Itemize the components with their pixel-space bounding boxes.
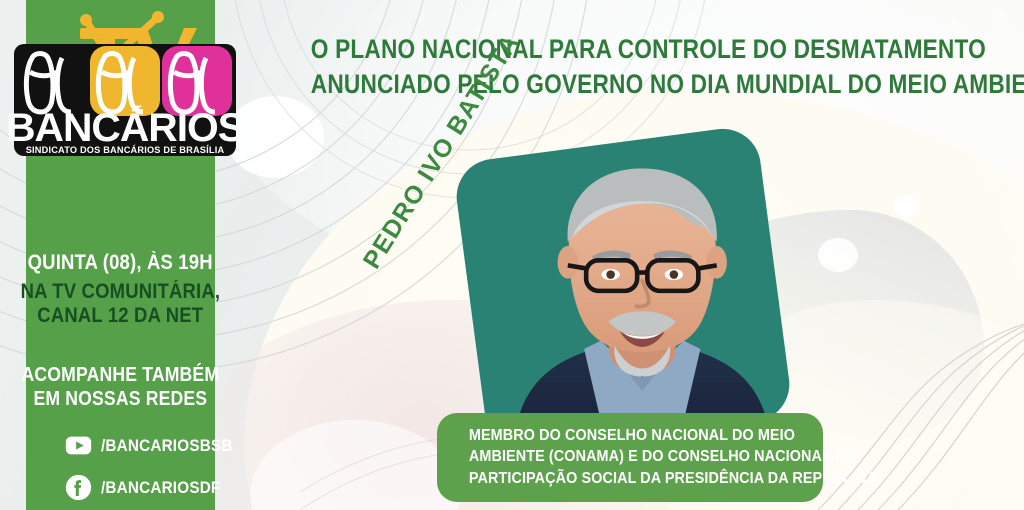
page-title: O PLANO NACIONAL PARA CONTROLE DO DESMAT… (250, 32, 1010, 101)
caption-line-3: PARTICIPAÇÃO SOCIAL DA PRESIDÊNCIA DA RE… (469, 468, 791, 489)
schedule-channel-line-1: NA TV COMUNITÁRIA, (21, 281, 221, 303)
follow-us-block: ACOMPANHE TAMBÉM EM NOSSAS REDES (8, 365, 233, 410)
logo-tagline: SINDICATO DOS BANCÁRIOS DE BRASÍLIA (26, 144, 225, 155)
background-blob (818, 238, 858, 272)
background-blob (893, 195, 919, 217)
social-links: /BANCARIOSBSB /BANCARIOSDF (41, 432, 201, 501)
caption-line-2: AMBIENTE (CONAMA) E DO CONSELHO NACIONAL… (469, 446, 791, 467)
schedule-day-time: QUINTA (08), ÀS 19H (28, 252, 213, 274)
headline-line-1: O PLANO NACIONAL PARA CONTROLE DO DESMAT… (311, 32, 949, 67)
promo-card: QUINTA (08), ÀS 19H NA TV COMUNITÁRIA, C… (0, 0, 1024, 510)
follow-us-line-2: EM NOSSAS REDES (22, 389, 220, 410)
speaker-photo-tile (452, 124, 794, 456)
social-link-facebook[interactable]: /BANCARIOSDF (65, 474, 234, 501)
speaker-caption: MEMBRO DO CONSELHO NACIONAL DO MEIO AMBI… (437, 413, 823, 502)
logo-wordmark: BANCÁRIOS (6, 104, 244, 150)
facebook-handle: /BANCARIOSDF (101, 478, 220, 498)
social-link-youtube[interactable]: /BANCARIOSBSB (65, 432, 247, 459)
headline-line-2: ANUNCIADO PELO GOVERNO NO DIA MUNDIAL DO… (311, 67, 949, 102)
facebook-icon (65, 474, 92, 501)
tv-bancarios-logo[interactable]: BANCÁRIOS SINDICATO DOS BANCÁRIOS DE BRA… (6, 6, 244, 162)
youtube-handle: /BANCARIOSBSB (101, 436, 233, 456)
schedule-channel-line-2: CANAL 12 DA NET (38, 305, 204, 327)
youtube-icon (65, 432, 92, 459)
speaker-photo (486, 136, 794, 437)
follow-us-line-1: ACOMPANHE TAMBÉM (22, 365, 220, 386)
caption-line-1: MEMBRO DO CONSELHO NACIONAL DO MEIO (469, 425, 791, 446)
